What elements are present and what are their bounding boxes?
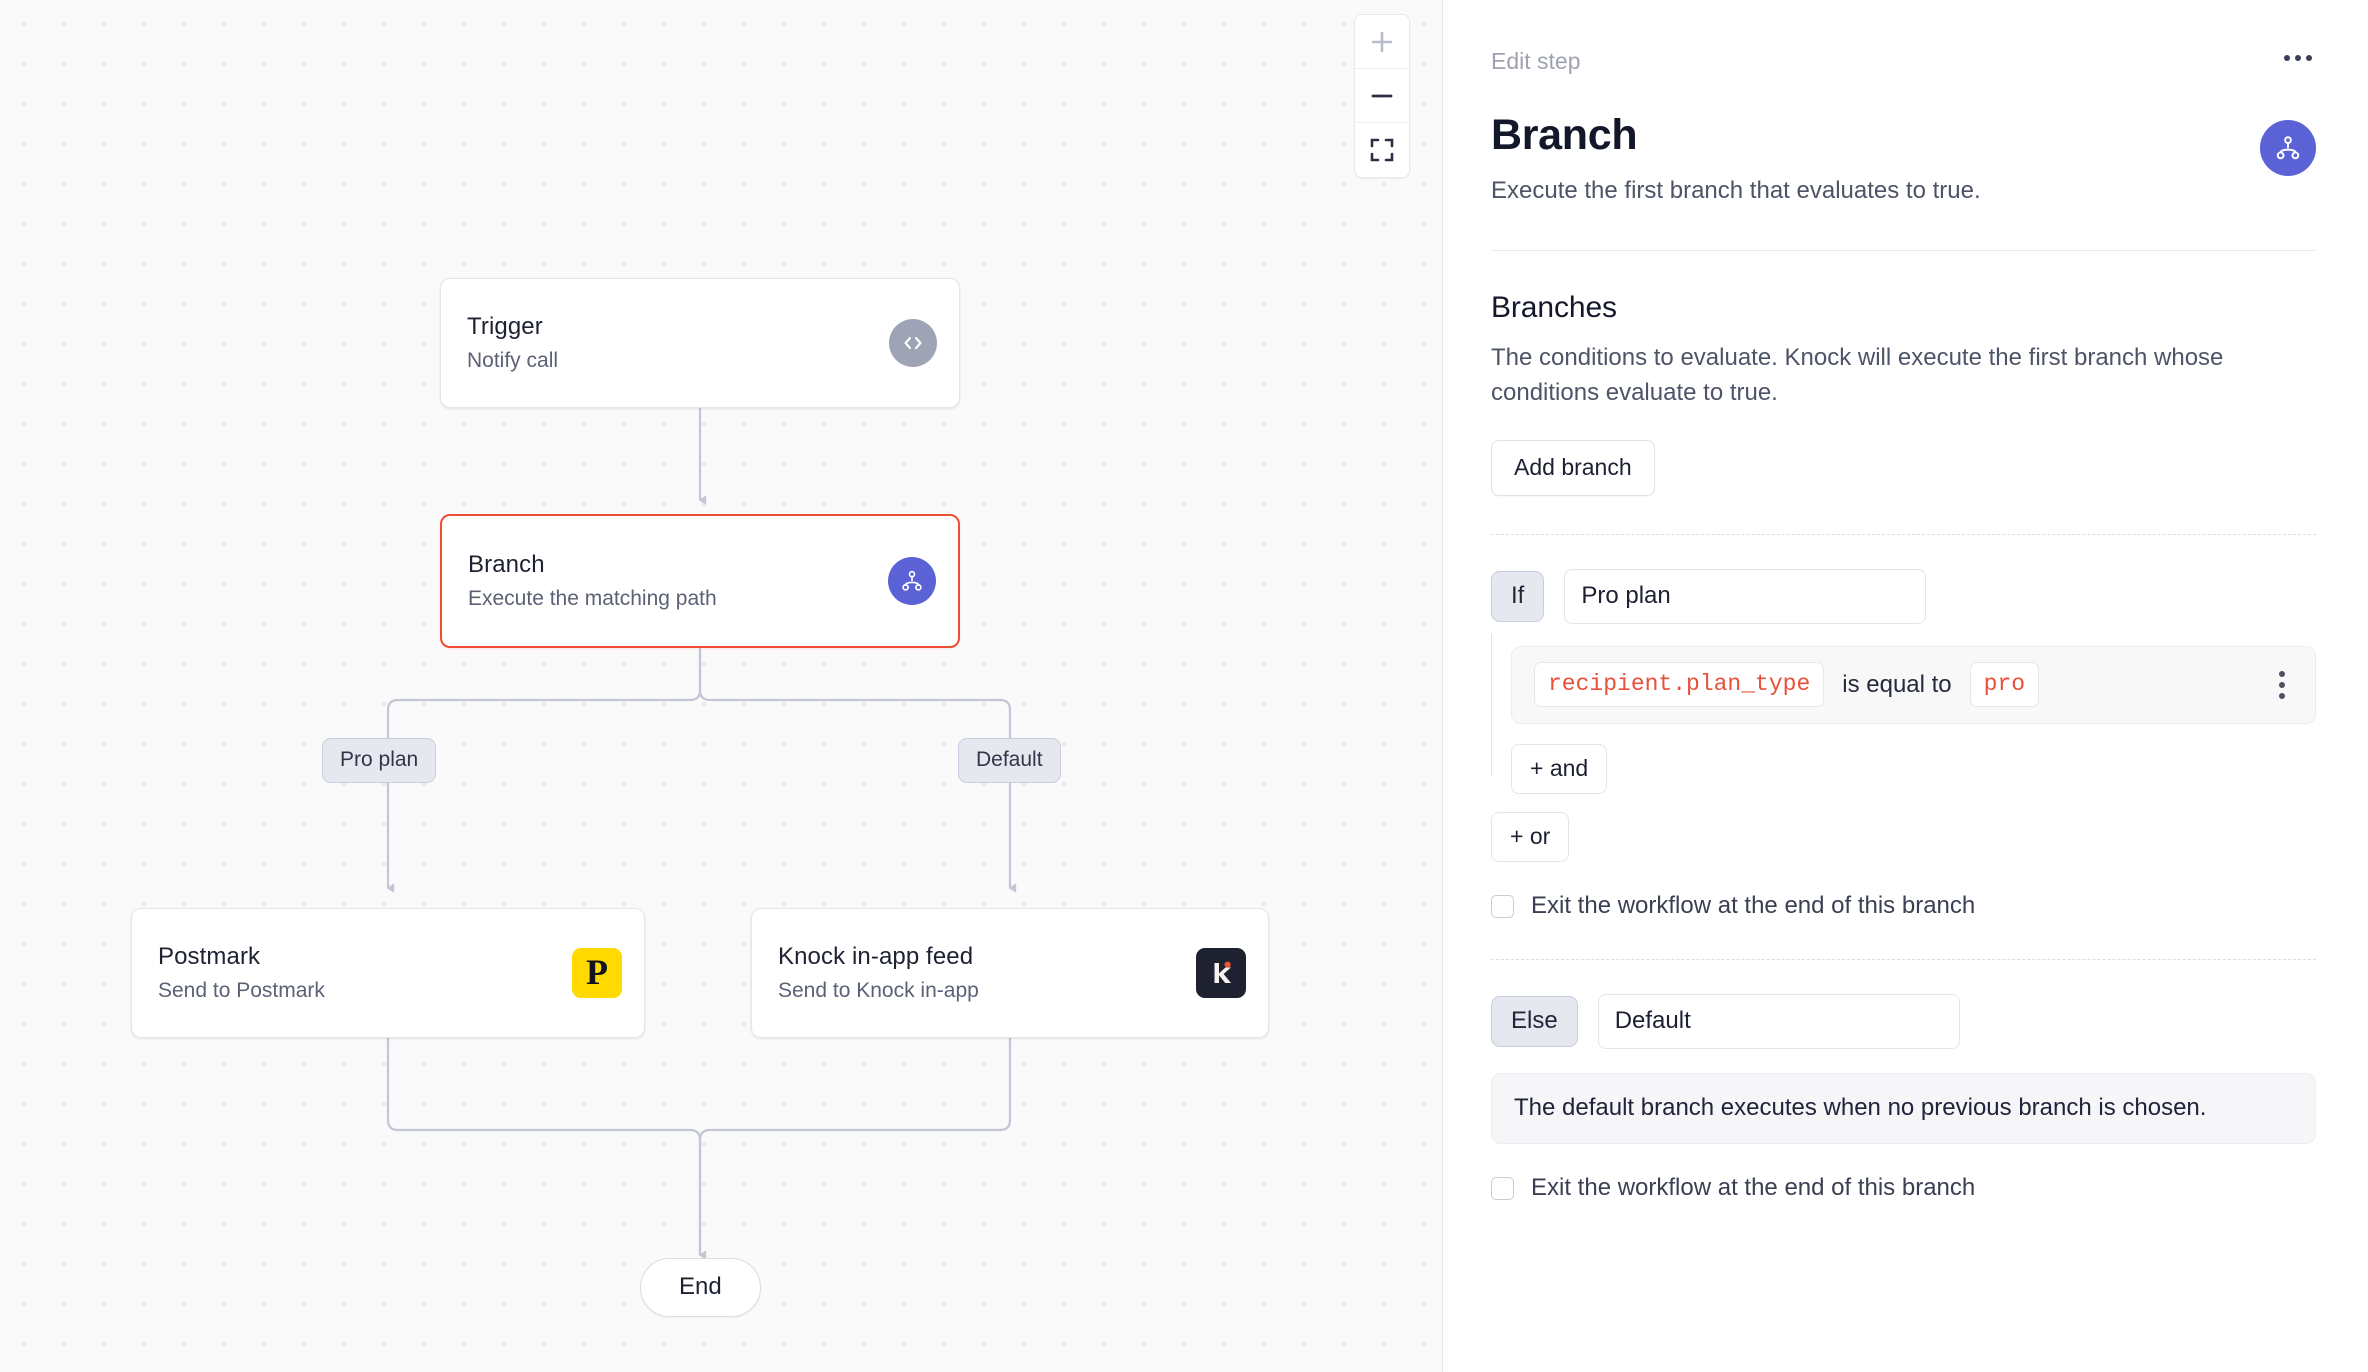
if-exit-workflow-label[interactable]: Exit the workflow at the end of this bra…: [1531, 892, 1975, 921]
zoom-out-button[interactable]: [1355, 69, 1409, 123]
node-trigger-icon: [889, 319, 937, 367]
condition-row: recipient.plan_type is equal to pro: [1511, 646, 2316, 724]
branch-separator: [1491, 534, 2316, 535]
panel-topbar: Edit step: [1491, 44, 2316, 76]
if-keyword-chip[interactable]: If: [1491, 571, 1544, 622]
node-knock-icon: [1196, 948, 1246, 998]
if-exit-workflow-checkbox[interactable]: [1491, 895, 1514, 918]
page-title: Branch: [1491, 112, 1981, 158]
else-branch-name-input[interactable]: [1598, 994, 1960, 1049]
postmark-icon: P: [572, 948, 622, 998]
node-knock-subtitle: Send to Knock in-app: [778, 978, 1178, 1003]
kebab-dot-icon: [2306, 55, 2312, 61]
node-postmark-subtitle: Send to Postmark: [158, 978, 554, 1003]
if-condition-block: recipient.plan_type is equal to pro: [1491, 646, 2316, 724]
condition-operator[interactable]: is equal to: [1842, 671, 1951, 699]
if-exit-workflow-row[interactable]: Exit the workflow at the end of this bra…: [1491, 892, 2316, 921]
add-and-wrapper: + and: [1491, 744, 2316, 794]
node-trigger[interactable]: Trigger Notify call: [440, 278, 960, 408]
branches-description: The conditions to evaluate. Knock will e…: [1491, 341, 2316, 410]
plus-icon: [1368, 28, 1396, 56]
fit-view-button[interactable]: [1355, 123, 1409, 177]
node-trigger-subtitle: Notify call: [467, 348, 871, 373]
node-postmark[interactable]: Postmark Send to Postmark P: [131, 908, 645, 1038]
node-end[interactable]: End: [640, 1258, 761, 1317]
node-branch-icon: [888, 557, 936, 605]
panel-more-options-button[interactable]: [2280, 44, 2316, 72]
node-postmark-text: Postmark Send to Postmark: [158, 943, 554, 1004]
edit-step-panel: Edit step Branch Execute the first branc…: [1443, 0, 2368, 1372]
node-branch-subtitle: Execute the matching path: [468, 586, 870, 611]
node-postmark-title: Postmark: [158, 943, 554, 972]
edge-label-default[interactable]: Default: [958, 738, 1061, 783]
node-branch-text: Branch Execute the matching path: [468, 551, 870, 612]
knock-icon: [1196, 948, 1246, 998]
node-knock-in-app[interactable]: Knock in-app feed Send to Knock in-app: [751, 908, 1269, 1038]
add-or-condition-button[interactable]: + or: [1491, 812, 1569, 862]
zoom-controls[interactable]: [1354, 14, 1410, 178]
node-branch-title: Branch: [468, 551, 870, 580]
fit-view-icon: [1369, 137, 1395, 163]
kebab-dot-icon: [2295, 55, 2301, 61]
panel-description: Execute the first branch that evaluates …: [1491, 175, 1981, 206]
postmark-letter: P: [586, 954, 608, 990]
edge-label-pro-plan[interactable]: Pro plan: [322, 738, 436, 783]
flow-connectors: [0, 0, 1443, 1372]
zoom-in-button[interactable]: [1355, 15, 1409, 69]
kebab-dot-icon: [2279, 693, 2285, 699]
panel-divider: [1491, 250, 2316, 251]
else-keyword-chip[interactable]: Else: [1491, 996, 1578, 1047]
node-trigger-text: Trigger Notify call: [467, 313, 871, 374]
panel-step-icon: [2260, 120, 2316, 176]
add-branch-button[interactable]: Add branch: [1491, 440, 1655, 496]
panel-headline: Branch Execute the first branch that eva…: [1491, 112, 2316, 207]
if-branch-name-input[interactable]: [1564, 569, 1926, 624]
condition-guide-line: [1491, 634, 1492, 728]
else-separator: [1491, 959, 2316, 960]
condition-value-chip[interactable]: pro: [1970, 662, 2039, 707]
minus-icon: [1368, 82, 1396, 110]
workflow-editor: Trigger Notify call Branch Execute the m…: [0, 0, 2368, 1372]
branches-heading: Branches: [1491, 291, 2316, 325]
code-icon: [889, 319, 937, 367]
add-and-condition-button[interactable]: + and: [1511, 744, 1607, 794]
kebab-dot-icon: [2284, 55, 2290, 61]
condition-guide-line: [1491, 722, 1492, 776]
else-exit-workflow-checkbox[interactable]: [1491, 1177, 1514, 1200]
condition-more-options-button[interactable]: [2269, 665, 2295, 705]
node-postmark-icon: P: [572, 948, 622, 998]
panel-headline-text: Branch Execute the first branch that eva…: [1491, 112, 1981, 207]
add-or-wrapper: + or: [1491, 812, 2316, 862]
node-branch[interactable]: Branch Execute the matching path: [440, 514, 960, 648]
branch-icon: [888, 557, 936, 605]
if-branch-row: If: [1491, 569, 2316, 624]
node-knock-title: Knock in-app feed: [778, 943, 1178, 972]
branch-icon: [2260, 120, 2316, 176]
else-exit-workflow-label[interactable]: Exit the workflow at the end of this bra…: [1531, 1174, 1975, 1203]
else-branch-note: The default branch executes when no prev…: [1491, 1073, 2316, 1144]
panel-eyebrow: Edit step: [1491, 44, 1581, 76]
node-knock-text: Knock in-app feed Send to Knock in-app: [778, 943, 1178, 1004]
kebab-dot-icon: [2279, 671, 2285, 677]
workflow-canvas[interactable]: Trigger Notify call Branch Execute the m…: [0, 0, 1443, 1372]
else-branch-row: Else: [1491, 994, 2316, 1049]
kebab-dot-icon: [2279, 682, 2285, 688]
node-trigger-title: Trigger: [467, 313, 871, 342]
else-exit-workflow-row[interactable]: Exit the workflow at the end of this bra…: [1491, 1174, 2316, 1203]
condition-variable-chip[interactable]: recipient.plan_type: [1534, 662, 1824, 707]
